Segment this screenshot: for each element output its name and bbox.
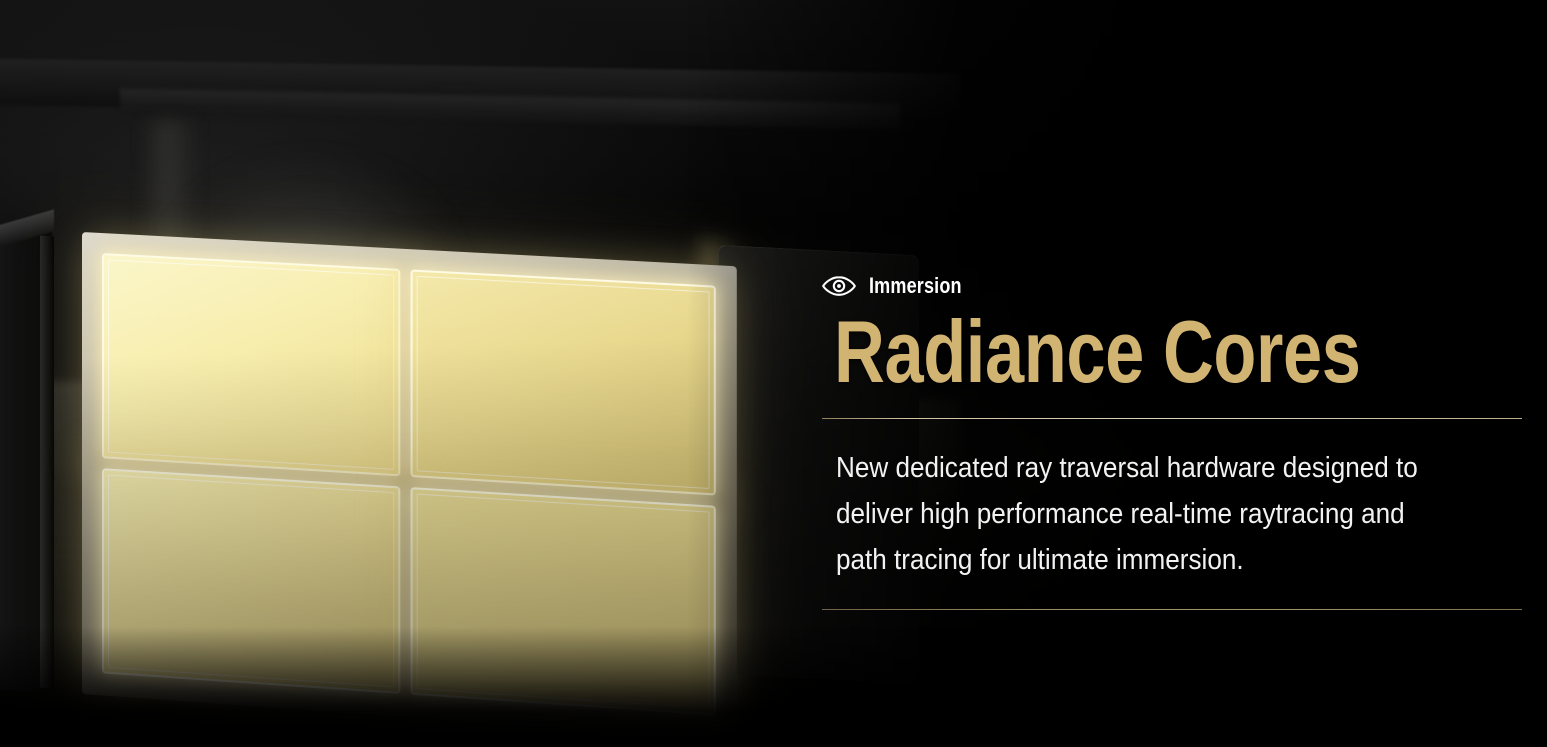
divider-bottom	[822, 609, 1522, 610]
bottom-vignette	[0, 627, 1547, 747]
feature-description: New dedicated ray traversal hardware des…	[836, 445, 1462, 583]
feature-slide: Immersion Radiance Cores New dedicated r…	[0, 0, 1547, 747]
eyebrow-label: Immersion	[869, 273, 962, 299]
left-module-block-edge	[40, 236, 54, 689]
eye-icon	[822, 275, 856, 297]
description-line-3: path tracing for ultimate immersion.	[836, 537, 1462, 583]
description-line-1: New dedicated ray traversal hardware des…	[836, 445, 1462, 491]
description-line-2: deliver high performance real-time raytr…	[836, 491, 1462, 537]
eyebrow: Immersion	[822, 270, 1532, 302]
divider-top	[822, 418, 1522, 419]
page-title: Radiance Cores	[834, 308, 1392, 396]
info-panel: Immersion Radiance Cores New dedicated r…	[822, 270, 1532, 610]
